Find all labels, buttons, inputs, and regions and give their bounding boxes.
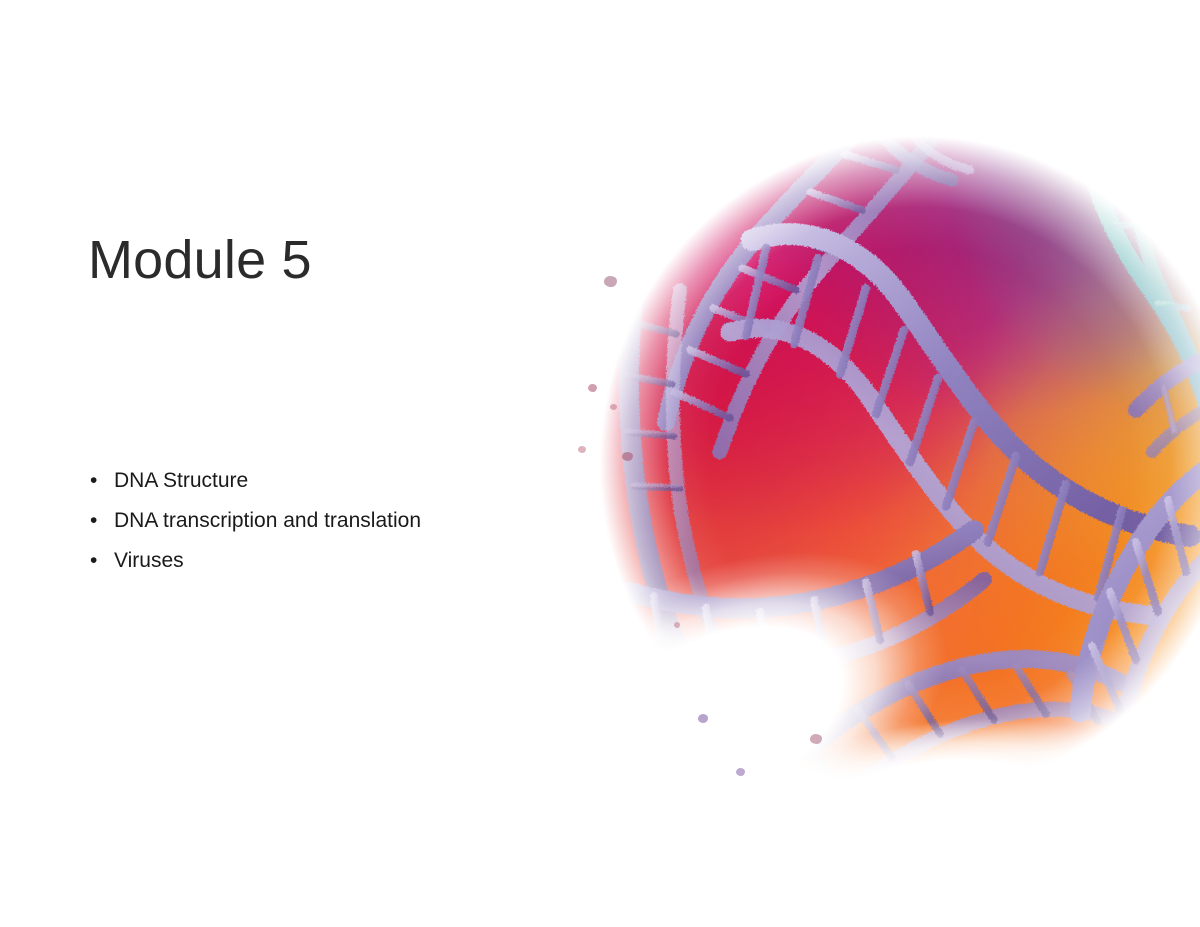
list-item-label: Viruses: [114, 549, 184, 572]
list-item-label: DNA transcription and translation: [114, 509, 421, 532]
paint-fleck: [622, 452, 633, 461]
paint-fleck: [588, 384, 597, 392]
paint-fleck: [604, 276, 617, 287]
bullet-marker-icon: •: [90, 541, 97, 581]
list-item-label: DNA Structure: [114, 469, 248, 492]
dna-watercolor-image: [570, 122, 1200, 805]
list-item: • DNA Structure: [88, 461, 518, 501]
paint-fleck: [578, 446, 586, 453]
paint-fleck: [736, 768, 745, 776]
watercolor-blob: [570, 122, 1200, 805]
list-item: • DNA transcription and translation: [88, 501, 518, 541]
paint-fleck: [610, 404, 617, 410]
bullet-list: • DNA Structure • DNA transcription and …: [88, 461, 518, 581]
page-title: Module 5: [88, 231, 312, 289]
slide: Module 5 • DNA Structure • DNA transcrip…: [0, 0, 1200, 927]
list-item: • Viruses: [88, 541, 518, 581]
paint-fleck: [810, 734, 822, 744]
bullet-marker-icon: •: [90, 461, 97, 501]
paint-fleck: [674, 622, 680, 628]
bullet-marker-icon: •: [90, 501, 97, 541]
paint-fleck: [698, 714, 708, 723]
